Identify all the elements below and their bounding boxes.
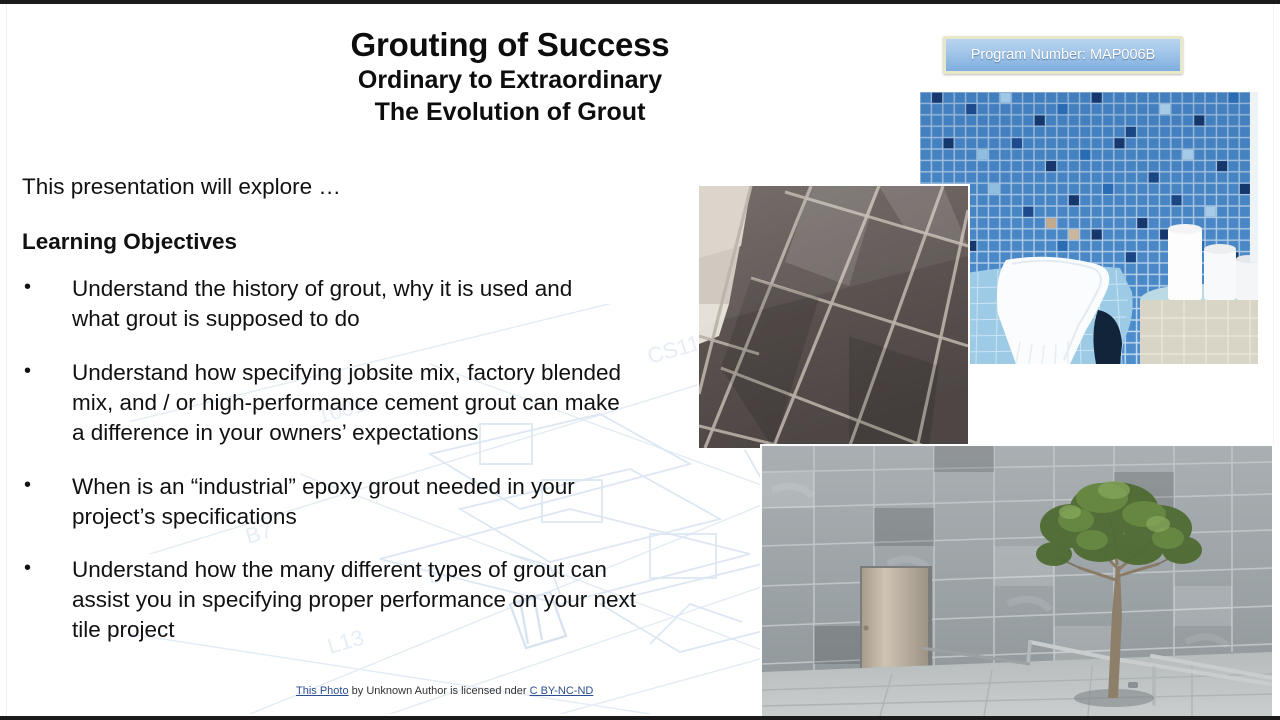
attribution-middle-text: by Unknown Author is licensed nder <box>349 685 530 697</box>
bullet-marker-icon: • <box>18 472 72 532</box>
dark-tile-floor-photo <box>699 186 968 448</box>
list-item: • When is an “industrial” epoxy grout ne… <box>18 472 718 532</box>
list-item-text: When is an “industrial” epoxy grout need… <box>72 472 575 532</box>
this-photo-link[interactable]: This Photo <box>296 685 349 697</box>
bullet-marker-icon: • <box>18 358 72 448</box>
list-item: • Understand the history of grout, why i… <box>18 274 718 334</box>
list-item: • Understand how specifying jobsite mix,… <box>18 358 718 448</box>
list-item-text: Understand the history of grout, why it … <box>72 274 572 334</box>
learning-objectives-heading: Learning Objectives <box>22 229 237 255</box>
bullet-marker-icon: • <box>18 555 72 645</box>
list-item-text: Understand how the many different types … <box>72 555 636 645</box>
grey-stone-facade-photo <box>762 446 1272 716</box>
program-number-badge: Program Number: MAP006B <box>943 36 1183 74</box>
photo-attribution: This Photo by Unknown Author is licensed… <box>296 685 593 697</box>
intro-text: This presentation will explore … <box>22 174 341 200</box>
bullet-marker-icon: • <box>18 274 72 334</box>
blue-mosaic-tile-bathroom-photo <box>920 92 1258 364</box>
title-subtitle-line-2: The Evolution of Grout <box>170 96 850 128</box>
slide-left-edge <box>6 4 7 716</box>
letterbox-top-bar <box>0 0 1280 4</box>
slide-right-edge <box>1273 4 1274 716</box>
title-subtitle-line-1: Ordinary to Extraordinary <box>170 64 850 96</box>
letterbox-bottom-bar <box>0 716 1280 720</box>
title-main-line: Grouting of Success <box>170 26 850 64</box>
list-item-text: Understand how specifying jobsite mix, f… <box>72 358 621 448</box>
program-number-label: Program Number: MAP006B <box>971 47 1156 63</box>
license-link[interactable]: C BY-NC-ND <box>530 685 594 697</box>
learning-objectives-list: • Understand the history of grout, why i… <box>18 274 718 669</box>
presentation-slide: CS11 L3 3046 221 1001 B2 9096 B05 L13 B7… <box>0 4 1280 716</box>
list-item: • Understand how the many different type… <box>18 555 718 645</box>
page-title: Grouting of Success Ordinary to Extraord… <box>170 26 850 128</box>
